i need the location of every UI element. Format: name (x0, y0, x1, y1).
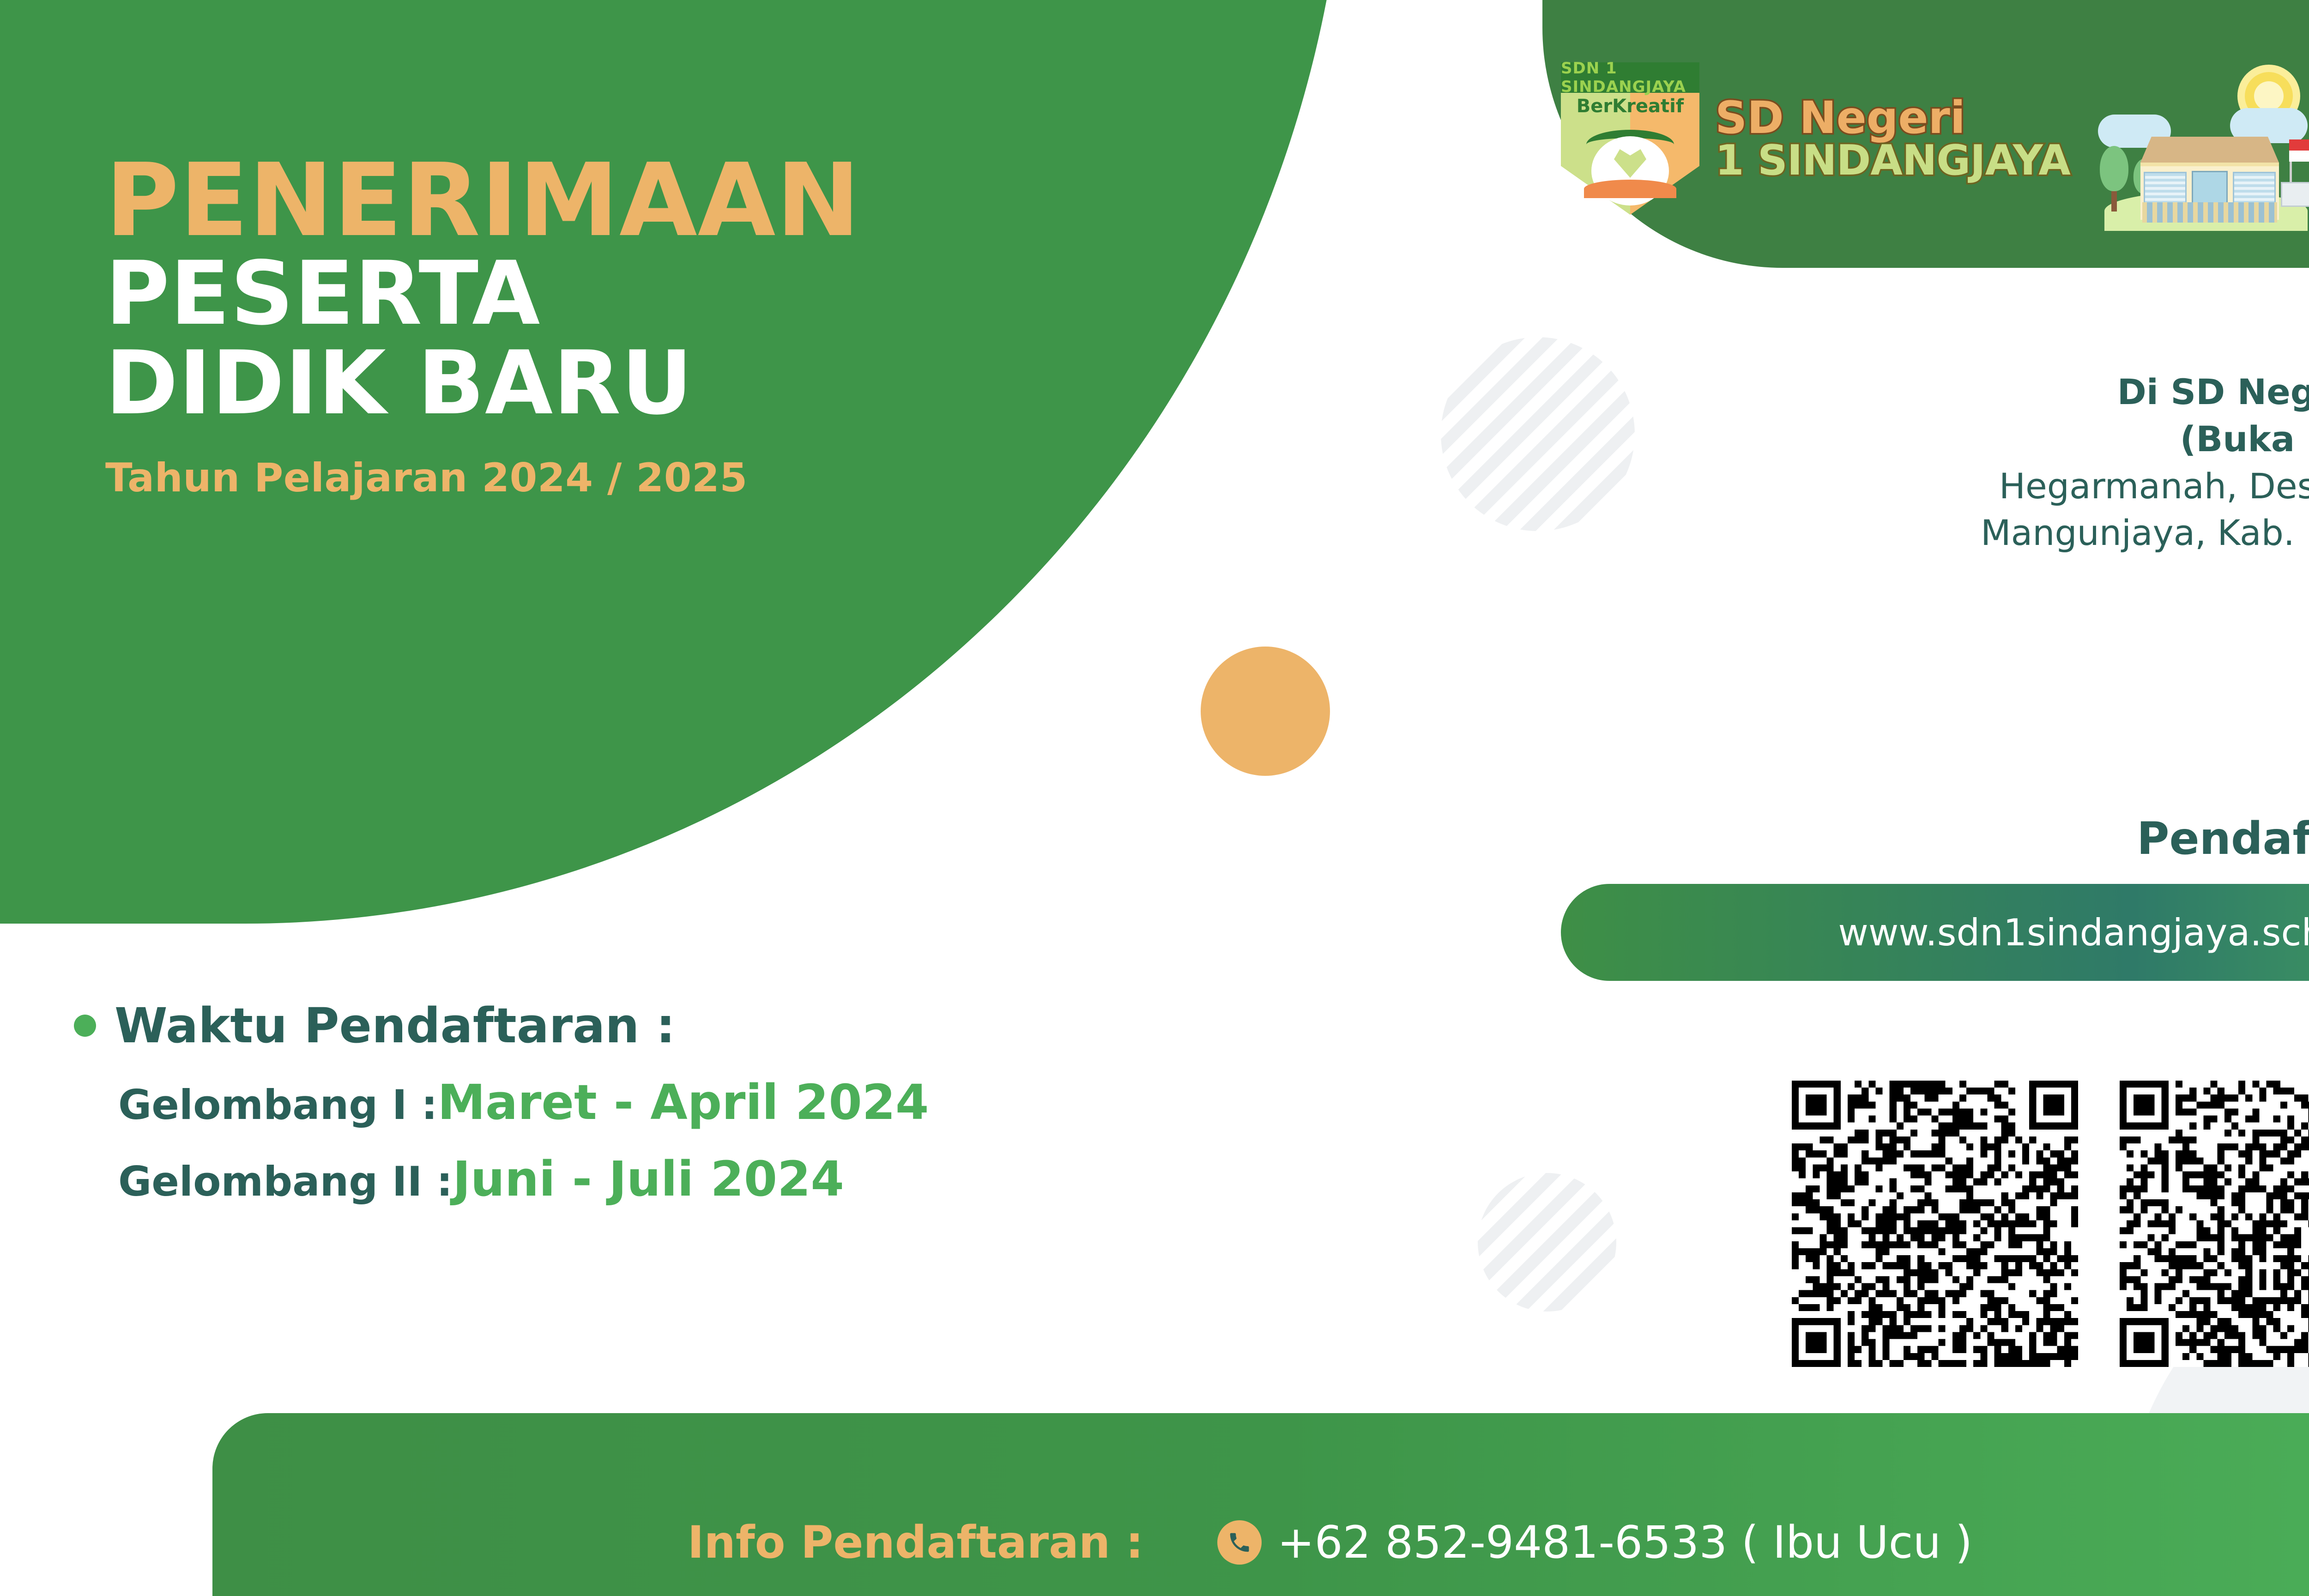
school-crest-logo: SDN 1 SINDANGJAYA BerKreatif (1561, 62, 1699, 215)
schedule-title-row: Waktu Pendaftaran : (74, 997, 1459, 1054)
school-building (2140, 137, 2279, 220)
registration-address-line-1: Hegarmanah, Desa Sindangjaya, Kec. (1422, 463, 2309, 510)
online-registration-block: Pendaftaran Online www.sdn1sindangjaya.s… (1422, 813, 2309, 981)
registration-place: Di SD Negeri 1 Sindangjaya (1422, 369, 2309, 416)
indonesia-flag-icon (2289, 139, 2309, 162)
schedule-row-wave-1: Gelombang I : Maret - April 2024 (118, 1074, 1459, 1130)
header-logo-row: SDN 1 SINDANGJAYA BerKreatif SD Negeri 1… (1561, 42, 2309, 236)
qr-code-left[interactable] (1792, 1081, 2078, 1367)
footer-info-label: Info Pendaftaran : (688, 1517, 1143, 1568)
registration-address: Di SD Negeri 1 Sindangjaya (Buka Setiap … (1422, 369, 2309, 556)
wave-1-label: Gelombang I : (118, 1081, 437, 1129)
crest-band: SDN 1 SINDANGJAYA (1561, 62, 1699, 93)
website-url-button[interactable]: www.sdn1sindangjaya.sch.id/ (1561, 884, 2309, 981)
schedule-title: Waktu Pendaftaran : (115, 997, 675, 1054)
bullet-dot-icon-schedule (74, 1015, 96, 1037)
hero-line-3: DIDIK BARU (105, 339, 1398, 428)
school-name-block: SD Negeri 1 SINDANGJAYA (1715, 96, 2070, 181)
schedule-block: Waktu Pendaftaran : Gelombang I : Maret … (74, 997, 1459, 1207)
registration-block: Pendaftaran Di SD Negeri 1 Sindangjaya (… (1422, 305, 2309, 556)
wave-1-value: Maret - April 2024 (437, 1074, 929, 1130)
schedule-row-wave-2: Gelombang II : Juni - Juli 2024 (118, 1151, 1459, 1207)
footer-contact-bar: Info Pendaftaran : +62 852-9481-6533 ( I… (212, 1413, 2309, 1596)
decorative-striped-circle-bottom (1478, 1173, 1616, 1312)
school-building-illustration (2086, 46, 2309, 231)
online-title-row: Pendaftaran Online (1422, 813, 2309, 864)
school-name-line-1: SD Negeri (1715, 96, 2070, 140)
crest-motto: BerKreatif (1561, 96, 1699, 117)
decorative-orange-dot (1201, 647, 1330, 776)
footer-phone-group[interactable]: +62 852-9481-6533 ( Ibu Ucu ) (1217, 1517, 1972, 1568)
crest-band-label: SDN 1 SINDANGJAYA (1561, 59, 1699, 96)
hero-line-1: PENERIMAAN (105, 152, 1398, 249)
online-registration-title: Pendaftaran Online (2137, 813, 2309, 864)
tree-icon-1 (2100, 146, 2128, 212)
crest-wave-shape (1584, 180, 1676, 198)
phone-icon (1217, 1520, 1262, 1565)
registration-address-line-2: Mangunjaya, Kab. Pangandaran 46371 (1422, 509, 2309, 556)
registration-hours: (Buka Setiap Hari Kerja) (1422, 416, 2309, 463)
registration-title-row: Pendaftaran (1422, 305, 2309, 357)
signboard-icon (2281, 182, 2309, 207)
building-roof (2140, 137, 2279, 163)
qr-code-right[interactable] (2120, 1081, 2309, 1367)
school-name-line-2: 1 SINDANGJAYA (1715, 140, 2070, 181)
wave-2-value: Juni - Juli 2024 (453, 1151, 844, 1207)
hero-school-year: Tahun Pelajaran 2024 / 2025 (105, 455, 1398, 501)
poster-canvas: PENERIMAAN PESERTA DIDIK BARU Tahun Pela… (0, 0, 2309, 1596)
footer-phone-number: +62 852-9481-6533 ( Ibu Ucu ) (1277, 1517, 1972, 1568)
wave-2-label: Gelombang II : (118, 1158, 453, 1205)
building-fence (2142, 202, 2277, 223)
qr-code-row (1792, 1081, 2309, 1367)
website-url-label: www.sdn1sindangjaya.sch.id/ (1838, 911, 2309, 954)
hero-line-2: PESERTA (105, 249, 1398, 339)
sun-core-icon (2254, 81, 2284, 111)
hero-block: PENERIMAAN PESERTA DIDIK BARU Tahun Pela… (105, 152, 1398, 501)
